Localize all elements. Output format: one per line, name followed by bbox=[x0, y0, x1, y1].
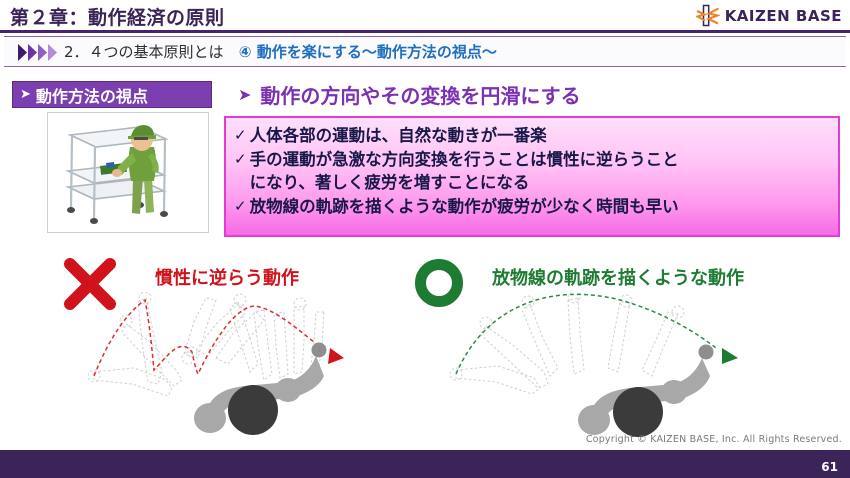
worker-at-workbench-illustration bbox=[48, 113, 208, 232]
subtitle-topic: ④ 動作を楽にする～動作方法の視点～ bbox=[239, 43, 497, 61]
kaizen-base-logo-icon bbox=[696, 4, 720, 27]
section-headline-text: 動作の方向やその変換を円滑にする bbox=[260, 80, 580, 109]
key-points-callout: ✓ 人体各部の運動は、自然な動きが一番楽 ✓ 手の運動が急激な方向変換を行うこと… bbox=[224, 116, 840, 237]
section-headline: ➤ 動作の方向やその変換を円滑にする bbox=[238, 80, 581, 109]
viewpoint-badge: ➤ 動作方法の視点 bbox=[12, 81, 212, 108]
check-mark-icon: ✓ bbox=[234, 195, 247, 218]
footer-bar bbox=[0, 450, 850, 478]
callout-item: ✓ 手の運動が急激な方向変換を行うことは慣性に逆らうこと になり、著しく疲労を増… bbox=[234, 148, 830, 194]
arm-motion-parabolic-arc bbox=[448, 292, 778, 440]
copyright-text: Copyright © KAIZEN BASE, Inc. All Rights… bbox=[586, 434, 842, 445]
slide-canvas: 第２章：動作経済の原則 KAIZEN BASE 2．４つの基本原則とは ④ 動作… bbox=[0, 0, 850, 478]
bad-motion-diagram bbox=[88, 292, 418, 440]
arm-motion-zigzag-against-inertia bbox=[88, 292, 418, 440]
check-mark-icon: ✓ bbox=[234, 148, 247, 194]
callout-item-body: 手の運動が急激な方向変換を行うことは慣性に逆らうこと になり、著しく疲労を増すこ… bbox=[250, 148, 830, 194]
callout-item-line: 人体各部の運動は、自然な動きが一番楽 bbox=[250, 124, 830, 147]
chevron-triple-right-icon bbox=[18, 44, 60, 61]
subtitle-section-number: 2．４つの基本原則とは bbox=[64, 43, 224, 61]
arrow-right-outline-icon: ➤ bbox=[238, 85, 251, 104]
good-example-label: 放物線の軌跡を描くような動作 bbox=[492, 264, 744, 290]
workbench-photo bbox=[47, 112, 209, 233]
callout-item: ✓ 放物線の軌跡を描くような動作が疲労が少なく時間も早い bbox=[234, 195, 830, 218]
callout-item-line: になり、著しく疲労を増すことになる bbox=[250, 173, 530, 192]
slide-header: 第２章：動作経済の原則 KAIZEN BASE bbox=[0, 0, 850, 31]
brand-logo-text: KAIZEN BASE bbox=[725, 7, 842, 25]
subtitle-bar: 2．４つの基本原則とは ④ 動作を楽にする～動作方法の視点～ bbox=[4, 36, 846, 67]
callout-item: ✓ 人体各部の運動は、自然な動きが一番楽 bbox=[234, 124, 830, 147]
callout-item-line: 放物線の軌跡を描くような動作が疲労が少なく時間も早い bbox=[250, 195, 830, 218]
callout-item-line: 手の運動が急激な方向変換を行うことは慣性に逆らうこと bbox=[250, 150, 679, 169]
good-motion-diagram bbox=[448, 292, 778, 440]
header-divider bbox=[0, 30, 850, 33]
check-mark-icon: ✓ bbox=[234, 124, 247, 147]
bad-example-label: 慣性に逆らう動作 bbox=[155, 264, 299, 290]
subtitle-text: 2．４つの基本原則とは ④ 動作を楽にする～動作方法の視点～ bbox=[64, 42, 497, 63]
page-title: 第２章：動作経済の原則 bbox=[10, 3, 225, 30]
page-number: 61 bbox=[821, 460, 838, 474]
brand-logo: KAIZEN BASE bbox=[696, 4, 842, 27]
viewpoint-badge-label: 動作方法の視点 bbox=[36, 83, 148, 107]
arrow-right-outline-icon: ➤ bbox=[20, 87, 31, 102]
